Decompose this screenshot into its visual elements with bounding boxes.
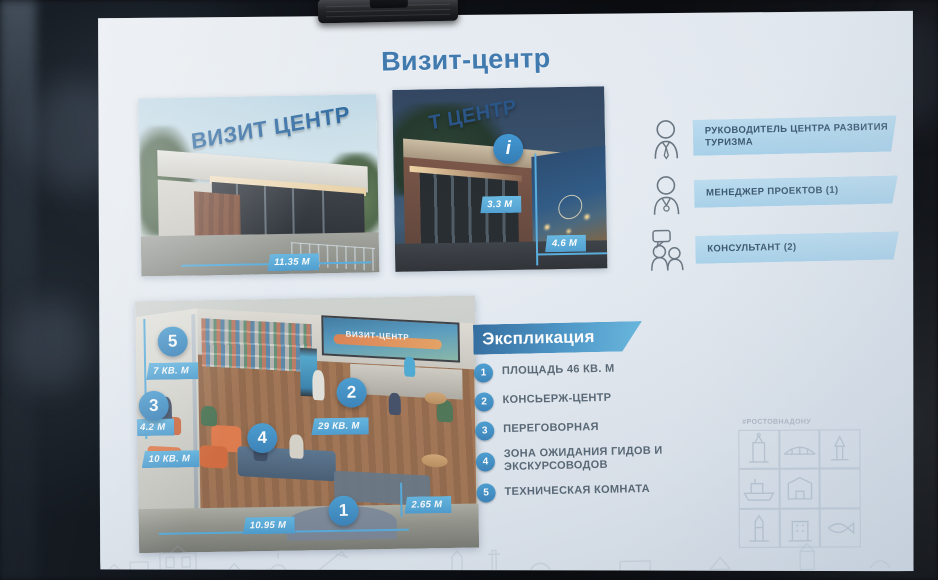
interior-floorplan-render: ВИЗИТ-ЦЕНТР xyxy=(135,296,479,554)
presentation-board: Визит-центр ВИЗИТ ЦЕНТР xyxy=(88,0,928,580)
person-badge-icon xyxy=(648,172,689,217)
staff-row: РУКОВОДИТЕЛЬ ЦЕНТРА РАЗВИТИЯ ТУРИЗМА xyxy=(646,109,897,162)
shelf-merchandise xyxy=(201,318,312,372)
exposition-badge-4: 4 xyxy=(476,452,495,471)
city-brand-logo: #РОСТОВНАДОНУ xyxy=(738,429,861,548)
mural-light xyxy=(545,224,550,230)
landmark-building-icon xyxy=(779,508,820,548)
armchair xyxy=(199,445,227,468)
area-chip-zone3: 10 КВ. М xyxy=(142,450,200,468)
board-clamp[interactable] xyxy=(318,0,459,29)
exposition-item: 3 ПЕРЕГОВОРНАЯ xyxy=(475,413,765,441)
staff-role-label: МЕНЕДЖЕР ПРОЕКТОВ (1) xyxy=(706,185,839,200)
dimension-chip-length: 10.95 М xyxy=(243,517,296,535)
exposition-label-4: ЗОНА ОЖИДАНИЯ ГИДОВ И ЭКСКУРСОВОДОВ xyxy=(504,442,767,475)
exposition-header: Экспликация xyxy=(473,321,643,355)
exposition-badge-2: 2 xyxy=(474,392,493,411)
landmark-ship-icon xyxy=(739,469,780,509)
exterior-night-photo: Т ЦЕНТР i 3.3 М 4.6 М xyxy=(392,86,607,272)
exposition-item: 1 ПЛОЩАДЬ 46 КВ. М xyxy=(474,355,764,383)
exposition-badge-5: 5 xyxy=(476,484,495,503)
photo-scene: Визит-центр ВИЗИТ ЦЕНТР xyxy=(0,0,938,580)
mural-light xyxy=(584,214,589,220)
area-chip-zone2: 29 КВ. М xyxy=(311,417,369,435)
landmark-bridge-icon xyxy=(779,430,820,470)
ferris-wheel-motif xyxy=(558,193,582,221)
clamp-notch xyxy=(370,0,408,8)
person-figure xyxy=(389,393,401,416)
exposition-item: 5 ТЕХНИЧЕСКАЯ КОМНАТА xyxy=(476,476,766,504)
exposition-item: 4 ЗОНА ОЖИДАНИЯ ГИДОВ И ЭКСКУРСОВОДОВ xyxy=(476,442,767,475)
person-figure xyxy=(404,356,415,377)
staff-role-label: РУКОВОДИТЕЛЬ ЦЕНТРА РАЗВИТИЯ ТУРИЗМА xyxy=(705,121,897,149)
dimension-chip-depth: 4.6 М xyxy=(545,235,587,253)
staff-role-bar: МЕНЕДЖЕР ПРОЕКТОВ (1) xyxy=(694,175,899,207)
staff-row: МЕНЕДЖЕР ПРОЕКТОВ (1) xyxy=(648,165,899,218)
exposition-item: 2 КОНСЬЕРЖ-ЦЕНТР xyxy=(474,384,764,412)
staff-roles-list: РУКОВОДИТЕЛЬ ЦЕНТРА РАЗВИТИЯ ТУРИЗМА МЕ xyxy=(646,109,900,282)
exposition-label-5: ТЕХНИЧЕСКАЯ КОМНАТА xyxy=(504,483,650,500)
staff-row: КОНСУЛЬТАНТ (2) xyxy=(649,221,900,274)
exposition-label-2: КОНСЬЕРЖ-ЦЕНТР xyxy=(502,392,611,408)
brand-hashtag: #РОСТОВНАДОНУ xyxy=(742,419,811,426)
landmark-blank-icon xyxy=(820,469,861,509)
landmark-church-icon xyxy=(738,430,779,470)
staff-role-label: КОНСУЛЬТАНТ (2) xyxy=(707,242,796,256)
exposition-badge-3: 3 xyxy=(475,421,494,440)
exposition-label-3: ПЕРЕГОВОРНАЯ xyxy=(503,421,599,436)
exterior-day-photo: ВИЗИТ ЦЕНТР 11.35 М xyxy=(138,94,379,276)
exposition-header-label: Экспликация xyxy=(482,327,595,349)
potted-plant xyxy=(201,406,217,427)
landmark-theatre-icon xyxy=(779,469,820,509)
background-bokeh xyxy=(10,300,90,390)
landmark-fish-icon xyxy=(820,508,861,548)
staff-role-bar: КОНСУЛЬТАНТ (2) xyxy=(695,231,900,263)
staff-role-bar: РУКОВОДИТЕЛЬ ЦЕНТРА РАЗВИТИЯ ТУРИЗМА xyxy=(693,115,898,155)
mural-light xyxy=(567,229,571,234)
video-wall-screen: ВИЗИТ-ЦЕНТР xyxy=(321,315,460,362)
person-figure xyxy=(312,370,325,401)
exposition-badge-1: 1 xyxy=(474,363,493,382)
person-figure xyxy=(289,434,303,459)
exposition-label-1: ПЛОЩАДЬ 46 КВ. М xyxy=(502,363,615,379)
background-light-strip xyxy=(0,0,36,580)
dimension-chip-entry: 2.65 М xyxy=(404,496,451,514)
dimension-chip-width: 11.35 М xyxy=(267,253,319,271)
person-tie-icon xyxy=(646,116,687,161)
page-title: Визит-центр xyxy=(381,43,551,78)
people-speech-icon xyxy=(649,228,690,273)
landmark-monument-icon xyxy=(820,429,861,469)
dimension-chip-height: 3.3 М xyxy=(480,196,522,214)
exposition-panel: Экспликация 1 ПЛОЩАДЬ 46 КВ. М 2 КОНСЬЕР… xyxy=(473,318,767,504)
area-chip-zone5: 7 КВ. М xyxy=(146,362,198,380)
landmark-tower-icon xyxy=(739,508,780,548)
brand-icon-grid xyxy=(738,429,861,548)
lounge-sofa xyxy=(237,446,336,481)
dimension-chip-depth: 4.2 М xyxy=(135,419,174,437)
